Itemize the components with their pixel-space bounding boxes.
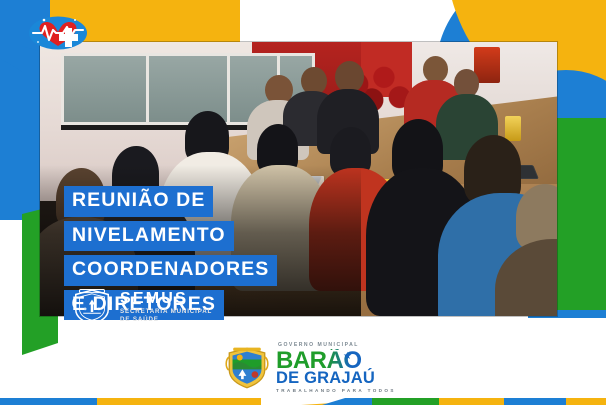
bottom-color-rule [0, 398, 606, 405]
bottom-rule-segment [372, 398, 439, 405]
person-head [335, 61, 364, 93]
government-name-line-2: DE GRAJAÚ [276, 370, 396, 387]
star-icon: ★ [343, 352, 352, 362]
poster-canvas: REUNIÃO DE NIVELAMENTO COORDENADORES E D… [0, 0, 606, 409]
headline-line-1: REUNIÃO DE [64, 186, 213, 217]
government-tagline: TRABALHANDO PARA TODOS [276, 389, 396, 394]
bottom-rule-segment [566, 398, 606, 405]
health-heart-ekg-icon [27, 12, 89, 54]
semus-logo-lockup: SEMUS SECRETARIA MUNICIPAL DE SAÚDE [72, 288, 212, 326]
semus-subtitle-line-1: SECRETARIA MUNICIPAL [120, 309, 212, 315]
headline-line-3: COORDENADORES [64, 255, 277, 286]
semus-text: SEMUS SECRETARIA MUNICIPAL DE SAÚDE [120, 291, 212, 322]
semus-subtitle-line-2: DE SAÚDE [120, 317, 212, 323]
government-logo-lockup: GOVERNO MUNICIPAL BARÃO ★ DE GRAJAÚ TRAB… [224, 344, 404, 392]
bottom-rule-segment [439, 398, 504, 405]
semus-acronym: SEMUS [120, 291, 212, 307]
bottom-rule-segment [0, 398, 97, 405]
bottom-rule-segment [504, 398, 566, 405]
government-text: GOVERNO MUNICIPAL BARÃO ★ DE GRAJAÚ TRAB… [276, 343, 396, 393]
barao-de-grajau-coat-of-arms-icon [224, 346, 270, 390]
juice-bottle [505, 116, 521, 141]
headline-line-2: NIVELAMENTO [64, 221, 234, 252]
semus-crest-icon [72, 288, 112, 326]
bottom-rule-segment [97, 398, 261, 405]
